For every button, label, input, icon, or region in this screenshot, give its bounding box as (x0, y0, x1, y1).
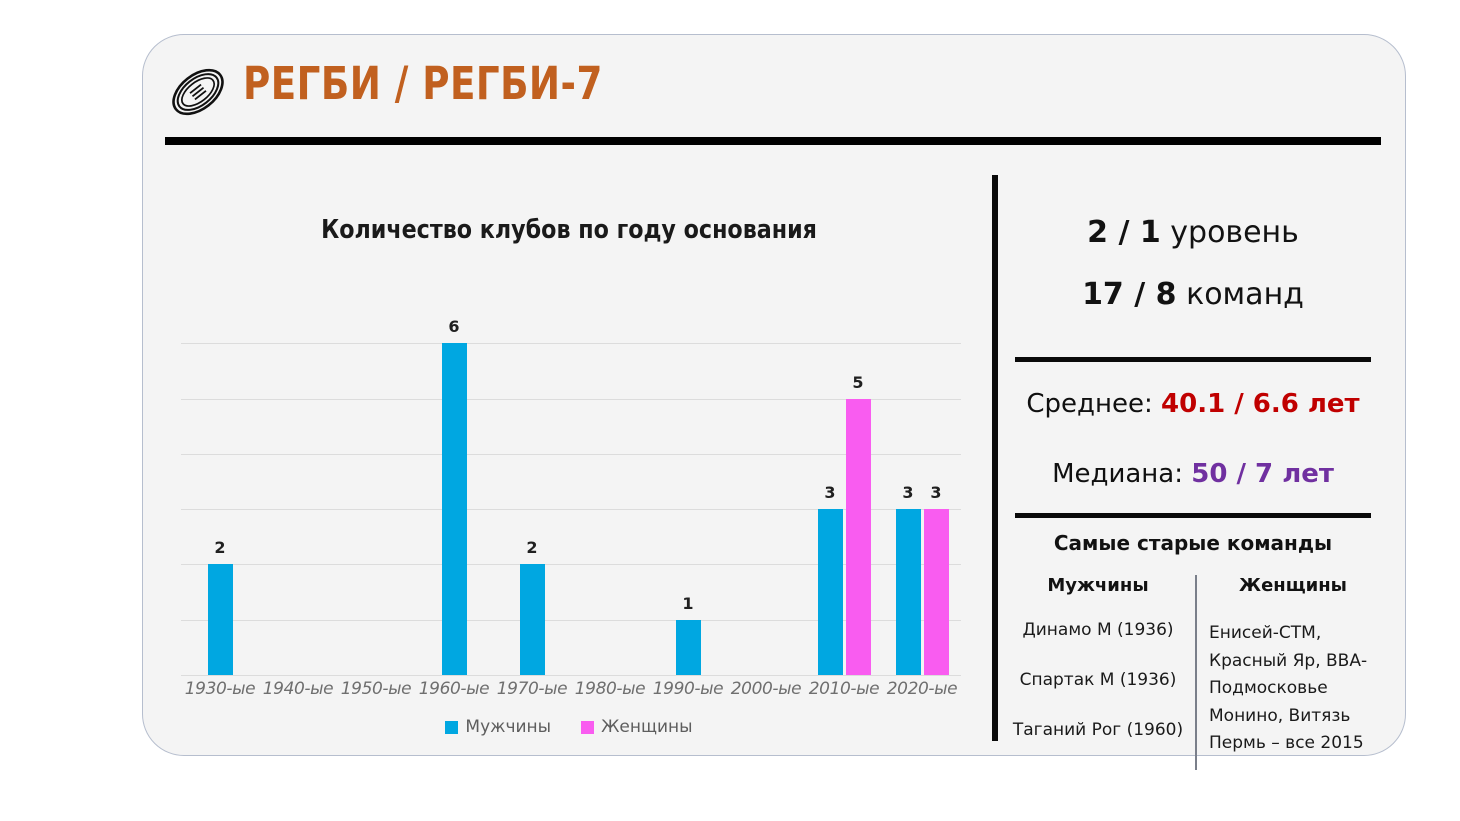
chart-bar (442, 343, 467, 675)
mean-value: 40.1 / 6.6 лет (1161, 389, 1360, 419)
chart-panel: Количество клубов по году основания 2621… (163, 155, 975, 745)
chart-legend-item[interactable]: Мужчины (445, 717, 551, 737)
median-stat: Медиана: 50 / 7 лет (1005, 459, 1381, 489)
team-entry: Динамо М (1936) (1011, 620, 1185, 640)
chart-x-tick: 1980-ые (571, 679, 649, 707)
chart-bar (896, 509, 921, 675)
chart-bar (208, 564, 233, 675)
chart-x-axis: 1930-ые1940-ые1950-ые1960-ые1970-ые1980-… (181, 679, 961, 707)
chart-bar-label: 5 (836, 373, 881, 392)
chart-gridline (181, 454, 961, 455)
card-header: РЕГБИ / РЕГБИ-7 (143, 35, 1405, 145)
chart-bar (924, 509, 949, 675)
levels-stat: 2 / 1 уровень (1005, 215, 1381, 250)
chart-x-tick: 1970-ые (493, 679, 571, 707)
chart-x-tick: 1990-ые (649, 679, 727, 707)
mean-label: Среднее: (1026, 389, 1152, 419)
chart-bar (676, 620, 701, 675)
chart-gridline (181, 343, 961, 344)
legend-label: Женщины (601, 717, 692, 737)
chart-bar-label: 2 (198, 538, 243, 557)
chart-bar (818, 509, 843, 675)
oldest-men-column: Мужчины Динамо М (1936)Спартак М (1936)Т… (1011, 575, 1197, 770)
teams-stat: 17 / 8 команд (1005, 277, 1381, 312)
stats-divider-1 (1015, 357, 1371, 362)
teams-label: команд (1186, 277, 1304, 312)
team-entry: Спартак М (1936) (1011, 670, 1185, 690)
chart-gridline (181, 564, 961, 565)
oldest-women-column: Женщины Енисей-СТМ, Красный Яр, ВВА-Подм… (1197, 575, 1377, 770)
page-title: РЕГБИ / РЕГБИ-7 (243, 57, 603, 110)
stats-panel: 2 / 1 уровень 17 / 8 команд Среднее: 40.… (1005, 175, 1381, 745)
oldest-teams-title: Самые старые команды (1005, 531, 1381, 555)
chart-x-tick: 2000-ые (727, 679, 805, 707)
teams-value: 17 / 8 (1082, 277, 1176, 312)
chart-bar-label: 1 (666, 594, 711, 613)
chart-bar (520, 564, 545, 675)
chart-plot-area: 26213533 (181, 288, 961, 675)
chart-gridline (181, 399, 961, 400)
legend-swatch-icon (581, 721, 594, 734)
legend-swatch-icon (445, 721, 458, 734)
chart-bar-label: 2 (510, 538, 555, 557)
levels-value: 2 / 1 (1087, 215, 1161, 250)
stats-divider-2 (1015, 513, 1371, 518)
chart-gridline (181, 620, 961, 621)
header-divider (165, 137, 1381, 145)
chart-gridline (181, 509, 961, 510)
legend-label: Мужчины (465, 717, 551, 737)
women-team-list: Енисей-СТМ, Красный Яр, ВВА-Подмосковье … (1209, 620, 1377, 758)
median-label: Медиана: (1052, 459, 1183, 489)
mean-stat: Среднее: 40.1 / 6.6 лет (1005, 389, 1381, 419)
median-value: 50 / 7 лет (1191, 459, 1334, 489)
panel-vertical-divider (992, 175, 998, 741)
women-column-header: Женщины (1209, 575, 1377, 596)
team-entry: Таганий Рог (1960) (1011, 720, 1185, 740)
men-team-list: Динамо М (1936)Спартак М (1936)Таганий Р… (1011, 620, 1185, 740)
chart-legend: МужчиныЖенщины (163, 717, 975, 737)
chart-bar (846, 399, 871, 675)
rugby-ball-icon (167, 61, 229, 123)
chart-title: Количество клубов по году основания (183, 215, 954, 245)
levels-label: уровень (1170, 215, 1299, 250)
chart-x-tick: 1930-ые (181, 679, 259, 707)
chart-bar-label: 3 (914, 483, 959, 502)
rugby-stats-card: РЕГБИ / РЕГБИ-7 Количество клубов по год… (142, 34, 1406, 756)
chart-x-tick: 1950-ые (337, 679, 415, 707)
chart-gridline (181, 675, 961, 676)
oldest-teams-table: Мужчины Динамо М (1936)Спартак М (1936)Т… (1011, 575, 1377, 770)
chart-x-tick: 1940-ые (259, 679, 337, 707)
chart-x-tick: 1960-ые (415, 679, 493, 707)
chart-bar-label: 6 (432, 317, 477, 336)
chart-legend-item[interactable]: Женщины (581, 717, 692, 737)
chart-x-tick: 2020-ые (883, 679, 961, 707)
chart-x-tick: 2010-ые (805, 679, 883, 707)
men-column-header: Мужчины (1011, 575, 1185, 596)
